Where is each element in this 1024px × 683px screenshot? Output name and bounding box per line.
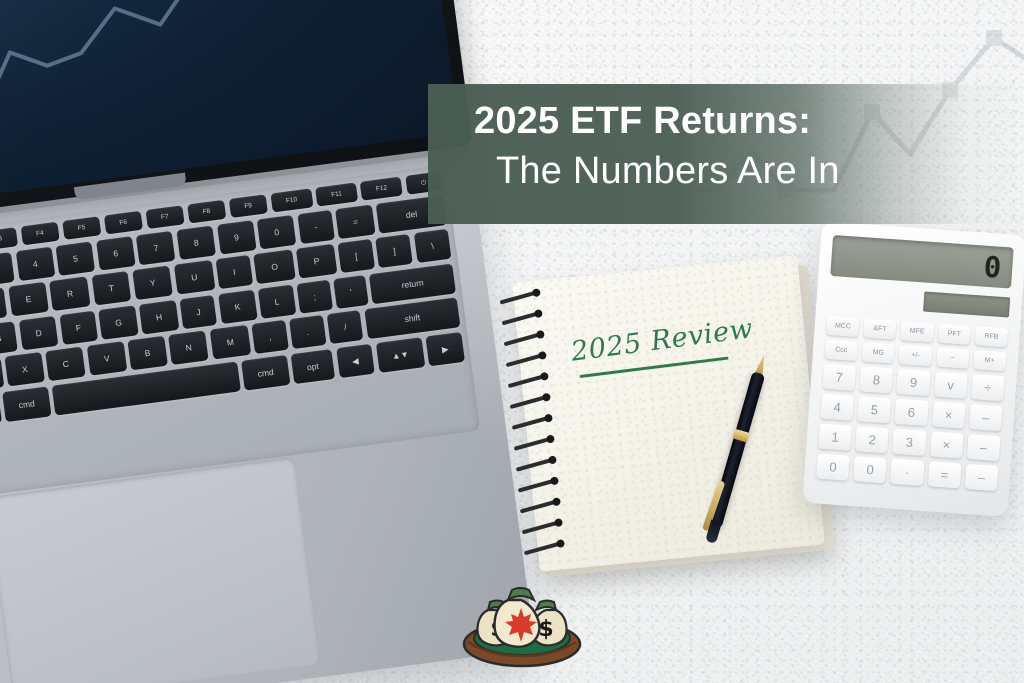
keyboard-key[interactable]: Z [0, 357, 4, 391]
svg-text:$: $ [538, 617, 553, 642]
keyboard-key[interactable]: P [296, 244, 337, 279]
calculator-key[interactable]: 5 [857, 396, 891, 423]
keyboard-key[interactable]: M [210, 325, 252, 360]
keyboard-key[interactable]: opt [291, 349, 336, 384]
keyboard-key[interactable]: ▲▼ [376, 337, 426, 373]
calculator-key[interactable]: &FT [863, 318, 896, 339]
calculator-key[interactable]: × [930, 431, 964, 458]
calculator-keypad[interactable]: MCC&FTMFEPFTRFB CccMG+/-~M+ 789v÷ 456×– … [816, 316, 1008, 491]
keyboard-key[interactable]: ; [297, 279, 333, 313]
keyboard-key[interactable]: B [127, 336, 167, 371]
keyboard-key[interactable]: ▶ [426, 331, 465, 365]
calculator-key[interactable]: 8 [860, 366, 894, 393]
ticker-vun: VUN 13.2% [0, 0, 6, 6]
keyboard-key[interactable]: F11 [315, 182, 358, 206]
title-line-2: The Numbers Are In [496, 146, 1024, 197]
keyboard-key[interactable]: ◀ [336, 343, 375, 377]
keyboard-key[interactable]: 0 [257, 214, 297, 248]
keyboard-key[interactable]: F10 [270, 188, 313, 212]
calculator-key[interactable]: 9 [897, 369, 931, 396]
calculator-key[interactable]: 4 [820, 394, 854, 421]
calculator-key[interactable]: 0 [816, 453, 850, 480]
keyboard-key[interactable]: J [179, 294, 217, 328]
keyboard-key[interactable]: X [5, 352, 45, 387]
keyboard-key[interactable]: F3 [0, 227, 18, 251]
ticker-return: 13.2% [0, 0, 6, 7]
calculator-key[interactable]: +/- [899, 345, 932, 366]
keyboard-key[interactable]: , [252, 320, 289, 354]
calculator-solar-panel [923, 292, 1010, 318]
keyboard-key[interactable]: \ [414, 229, 452, 263]
keyboard-key[interactable]: D [19, 315, 59, 349]
keyboard-key[interactable]: cmd [2, 386, 51, 422]
keyboard-key[interactable]: G [98, 305, 138, 340]
calculator-key[interactable]: – [969, 404, 1003, 431]
calculator-key[interactable]: MFE [900, 321, 933, 342]
keyboard-key[interactable]: H [139, 300, 179, 334]
calculator-display: 0 [830, 235, 1013, 289]
keyboard-key[interactable]: T [91, 271, 131, 306]
calculator-key[interactable]: PFT [938, 324, 971, 345]
keyboard-key[interactable]: 8 [176, 225, 216, 259]
keyboard-key[interactable]: S [0, 321, 18, 355]
keyboard-key[interactable]: 7 [136, 230, 176, 264]
calculator-key[interactable]: 0 [853, 456, 887, 483]
keyboard-key[interactable]: / [327, 310, 364, 344]
calculator-key[interactable]: · [890, 459, 924, 486]
keyboard-key[interactable]: cmd [241, 354, 290, 390]
keyboard-key[interactable]: 5 [56, 241, 96, 275]
keyboard-key[interactable]: . [289, 315, 326, 349]
calculator-key[interactable]: Ccc [824, 340, 857, 361]
money-bags-nest-logo-icon[interactable]: $ $ [458, 572, 586, 670]
title-line-1: 2025 ETF Returns: [474, 98, 1024, 146]
calculator-key[interactable]: MCC [826, 316, 859, 337]
keyboard-key[interactable]: opt [0, 392, 2, 427]
keyboard-key[interactable]: 4 [15, 246, 55, 280]
keyboard-key[interactable]: E [8, 282, 49, 317]
keyboard-key[interactable]: = [335, 204, 375, 238]
calculator-key[interactable]: v [934, 371, 968, 398]
calculator-body: 0 MCC&FTMFEPFTRFB CccMG+/-~M+ 789v÷ 456×… [802, 221, 1024, 517]
keyboard-key[interactable]: V [87, 341, 127, 376]
keyboard-key[interactable]: Y [132, 265, 173, 300]
keyboard-key[interactable]: F [59, 310, 98, 344]
keyboard-key[interactable]: 3 [0, 252, 15, 286]
keyboard-key[interactable]: [ [337, 239, 375, 273]
keyboard-key[interactable]: ' [333, 275, 368, 309]
title-banner-text: 2025 ETF Returns: The Numbers Are In [474, 98, 1024, 197]
keyboard-key[interactable]: N [168, 330, 209, 365]
calculator-key[interactable]: × [932, 401, 966, 428]
keyboard-key[interactable]: F12 [360, 177, 403, 201]
keyboard-key[interactable]: F5 [62, 216, 102, 240]
keyboard-key[interactable]: F9 [228, 194, 268, 218]
keyboard-key[interactable]: R [49, 276, 90, 311]
poster-canvas: VFV 9.5% VUN 13.2% VIU 8.9% VDY 10.3% [0, 0, 1024, 683]
keyboard-key[interactable]: L [258, 284, 296, 318]
keyboard-key[interactable]: U [174, 260, 215, 295]
keyboard-key[interactable]: C [45, 347, 86, 382]
calculator-key[interactable]: = [927, 461, 961, 488]
keyboard-key[interactable]: F4 [20, 222, 60, 246]
calculator-key[interactable]: 2 [855, 426, 889, 453]
keyboard-key[interactable]: K [218, 289, 257, 323]
keyboard-key[interactable]: O [254, 249, 296, 284]
calculator-key[interactable]: RFB [975, 326, 1008, 347]
keyboard-key[interactable]: return [369, 263, 456, 304]
keyboard-key[interactable]: F7 [145, 205, 185, 229]
keyboard-key[interactable]: I [216, 255, 254, 289]
keyboard-key[interactable]: 9 [217, 220, 257, 254]
calculator-key[interactable]: ÷ [971, 374, 1005, 401]
keyboard-key[interactable]: W [0, 287, 7, 322]
title-banner: 2025 ETF Returns: The Numbers Are In [428, 84, 1024, 224]
calculator-key[interactable]: – [965, 464, 999, 491]
calculator-key[interactable]: MG [862, 342, 895, 363]
keyboard-key[interactable]: 6 [96, 236, 136, 270]
calculator-key[interactable]: ~ [936, 348, 969, 369]
keyboard-key[interactable]: - [297, 209, 335, 243]
calculator-key[interactable]: 6 [895, 399, 929, 426]
calculator-key[interactable]: 1 [818, 424, 852, 451]
calculator-key[interactable]: 3 [892, 429, 926, 456]
laptop-trackpad[interactable] [0, 457, 321, 683]
calculator-key[interactable]: – [967, 434, 1001, 461]
keyboard-key[interactable]: F8 [187, 200, 227, 224]
keyboard-key[interactable]: ] [376, 234, 414, 268]
calculator-key[interactable]: 7 [822, 364, 856, 391]
calculator[interactable]: 0 MCC&FTMFEPFTRFB CccMG+/-~M+ 789v÷ 456×… [802, 221, 1024, 517]
calculator-key[interactable]: M+ [973, 350, 1006, 371]
keyboard-key[interactable]: F6 [103, 211, 143, 235]
spiral-notebook: 2025 Review [506, 254, 843, 582]
